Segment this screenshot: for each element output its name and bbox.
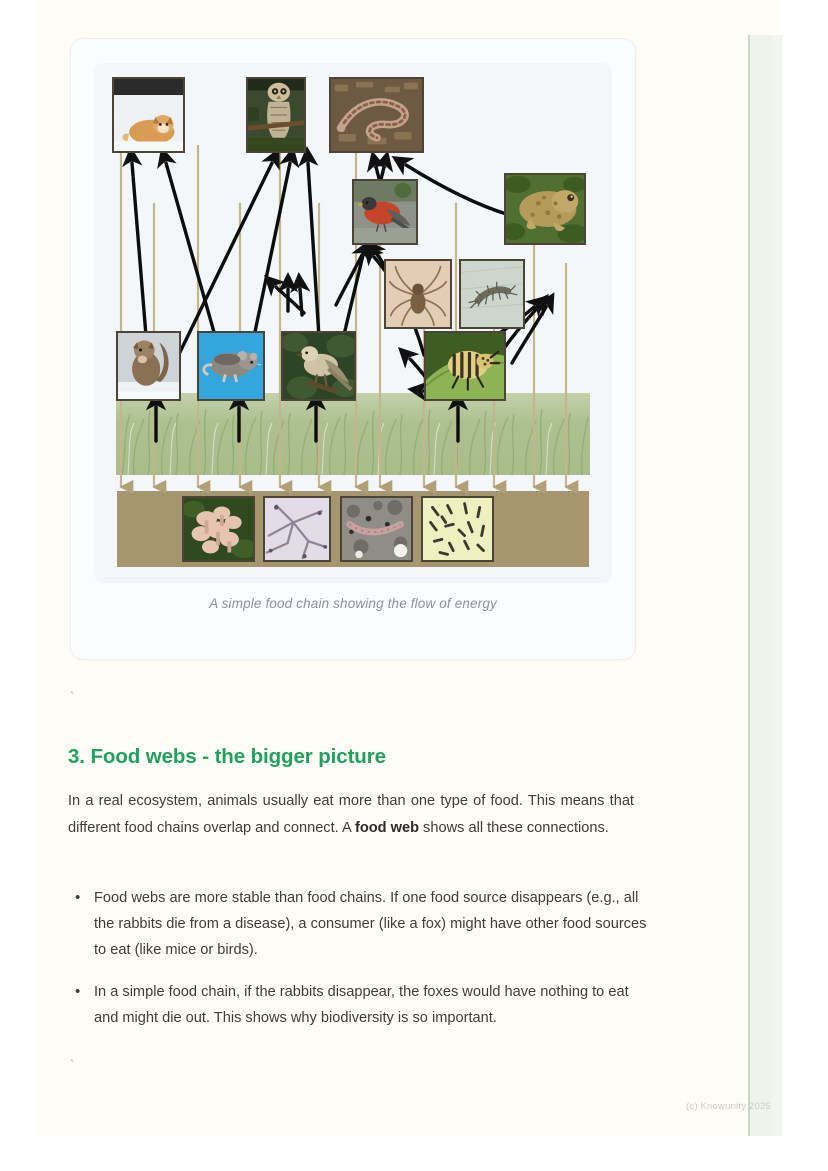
list-item: Food webs are more stable than food chai…	[68, 886, 648, 963]
copyright-watermark: (c) Knowunity 2025	[686, 1101, 771, 1112]
bullet-list: Food webs are more stable than food chai…	[68, 886, 648, 1049]
stray-backtick-top: `	[68, 690, 76, 705]
photo-squirrel	[116, 331, 181, 401]
fox-image	[114, 79, 183, 151]
owl-image	[248, 79, 304, 151]
squirrel-image	[118, 333, 179, 399]
beetle-image	[426, 333, 504, 399]
figure-image-area	[94, 63, 612, 583]
silverfish-image	[461, 261, 523, 327]
photo-fox	[112, 77, 185, 153]
grass-producer-band	[116, 393, 590, 475]
photo-silverfish	[459, 259, 525, 329]
toad-image	[506, 175, 584, 243]
section-heading: 3. Food webs - the bigger picture	[68, 745, 386, 769]
photo-beetle	[424, 331, 506, 401]
bacteria-image	[423, 498, 492, 560]
snake-image	[331, 79, 422, 151]
food-web-term: food web	[355, 820, 419, 836]
figure-card: A simple food chain showing the flow of …	[70, 38, 636, 660]
photo-spider	[384, 259, 452, 329]
list-item: In a simple food chain, if the rabbits d…	[68, 980, 648, 1032]
robin-image	[354, 181, 416, 243]
food-web-diagram	[94, 63, 612, 583]
sparrow-image	[283, 333, 354, 399]
figure-caption: A simple food chain showing the flow of …	[71, 596, 635, 611]
earthworm-image	[342, 498, 411, 560]
photo-earthworm	[340, 496, 413, 562]
grass-blades-icon	[116, 393, 590, 475]
photo-sparrow	[281, 331, 356, 401]
photo-mushrooms	[182, 496, 255, 562]
paragraph-text-after: shows all these connections.	[419, 820, 609, 836]
photo-owl	[246, 77, 306, 153]
photo-bacteria	[421, 496, 494, 562]
intro-paragraph: In a real ecosystem, animals usually eat…	[68, 788, 634, 842]
fungal-hyphae-image	[265, 498, 329, 560]
stray-backtick-bottom: `	[68, 1058, 76, 1073]
spider-image	[386, 261, 450, 327]
mushrooms-image	[184, 498, 253, 560]
page-root: A simple food chain showing the flow of …	[0, 0, 828, 1171]
photo-mouse	[197, 331, 265, 401]
mouse-image	[199, 333, 263, 399]
photo-fungal-hyphae	[263, 496, 331, 562]
photo-robin	[352, 179, 418, 245]
photo-toad	[504, 173, 586, 245]
photo-snake	[329, 77, 424, 153]
right-green-strip-inner	[772, 35, 780, 1136]
